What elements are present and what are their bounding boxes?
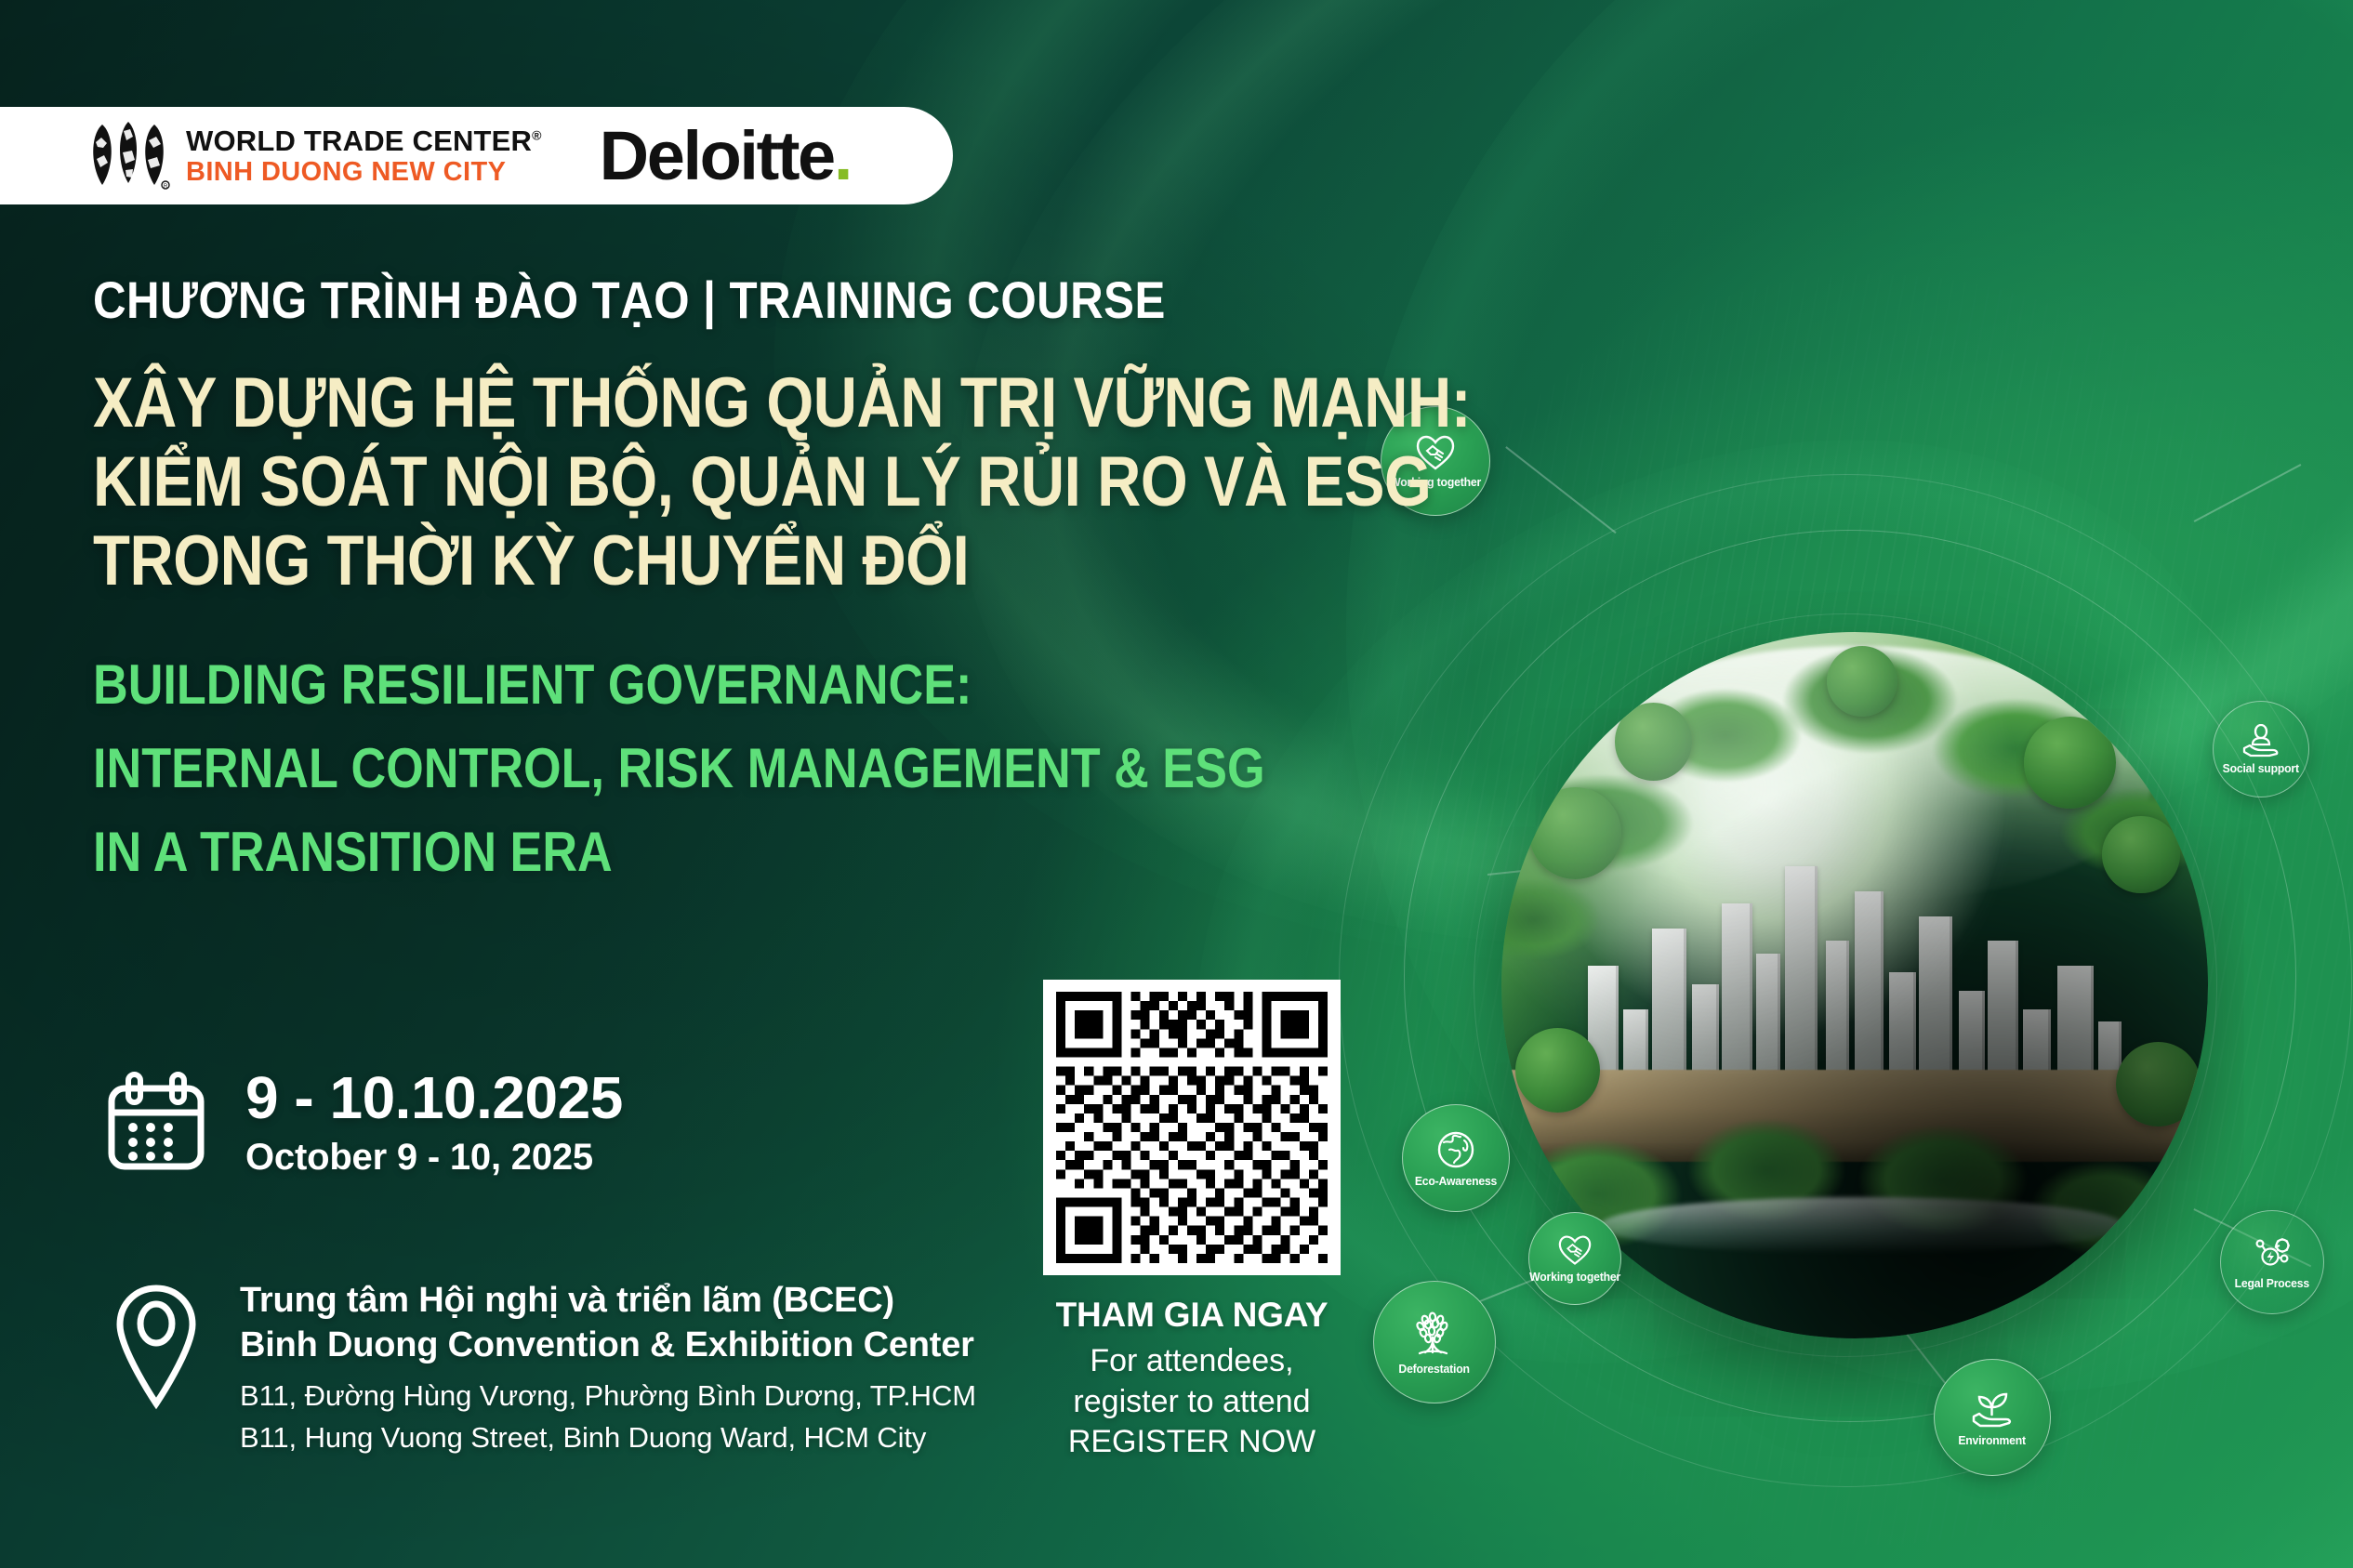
headline-block: CHƯƠNG TRÌNH ĐÀO TẠO | TRAINING COURSE X…	[93, 270, 1543, 894]
logo-bar: R WORLD TRADE CENTER® BINH DUONG NEW CIT…	[0, 107, 953, 204]
wtc-line-2: BINH DUONG NEW CITY	[186, 159, 542, 186]
headline-vietnamese: XÂY DỰNG HỆ THỐNG QUẢN TRỊ VỮNG MẠNH: KI…	[93, 363, 1341, 600]
wtc-globe-leaves-icon: R	[84, 122, 173, 191]
esg-badge-legal-process[interactable]: Legal Process	[2220, 1210, 2324, 1314]
esg-badge-label: Environment	[1959, 1433, 2027, 1447]
esg-badge-working-together-2[interactable]: Working together	[1528, 1212, 1621, 1305]
registered-mark: ®	[532, 127, 542, 142]
date-secondary: October 9 - 10, 2025	[245, 1138, 623, 1177]
svg-text:R: R	[164, 184, 168, 190]
poster-canvas: R WORLD TRADE CENTER® BINH DUONG NEW CIT…	[0, 0, 2353, 1568]
esg-badge-label: Working together	[1529, 1270, 1620, 1284]
venue-name-en: Binh Duong Convention & Exhibition Cente…	[240, 1324, 976, 1368]
venue-name-vi: Trung tâm Hội nghị và triển lãm (BCEC)	[240, 1279, 976, 1324]
wtc-logo: R WORLD TRADE CENTER® BINH DUONG NEW CIT…	[84, 122, 542, 191]
location-block: Trung tâm Hội nghị và triển lãm (BCEC) B…	[112, 1275, 976, 1456]
deloitte-dot: .	[834, 117, 851, 194]
esg-badge-social-support[interactable]: Social support	[2213, 701, 2309, 797]
headline-vi-line-1: XÂY DỰNG HỆ THỐNG QUẢN TRỊ VỮNG MẠNH:	[93, 363, 1341, 442]
connector-line	[2194, 464, 2301, 521]
handshake-heart-icon	[1557, 1234, 1593, 1266]
esg-badge-environment[interactable]: Environment	[1934, 1359, 2051, 1476]
esg-badge-label: Deforestation	[1399, 1362, 1470, 1376]
esg-badge-deforestation[interactable]: Deforestation	[1373, 1281, 1496, 1403]
address-en: B11, Hung Vuong Street, Binh Duong Ward,…	[240, 1420, 976, 1456]
date-primary: 9 - 10.10.2025	[245, 1067, 623, 1130]
wtc-line-1: WORLD TRADE CENTER®	[186, 126, 542, 155]
headline-en-line-3: IN A TRANSITION ERA	[93, 810, 1355, 894]
wtc-wordmark: WORLD TRADE CENTER® BINH DUONG NEW CITY	[186, 126, 542, 186]
calendar-icon	[104, 1070, 208, 1174]
tree-icon	[1410, 1310, 1459, 1358]
qr-code-icon[interactable]	[1043, 980, 1341, 1275]
esg-badge-label: Legal Process	[2235, 1276, 2309, 1290]
esg-badge-label: Social support	[2223, 761, 2299, 775]
cta-en-line-1: For attendees,	[1043, 1341, 1341, 1382]
address-vi: B11, Đường Hùng Vương, Phường Bình Dương…	[240, 1378, 976, 1415]
map-pin-icon	[112, 1283, 201, 1411]
headline-en-line-2: INTERNAL CONTROL, RISK MANAGEMENT & ESG	[93, 727, 1355, 810]
location-text: Trung tâm Hội nghị và triển lãm (BCEC) B…	[240, 1275, 976, 1456]
date-text: 9 - 10.10.2025 October 9 - 10, 2025	[245, 1067, 623, 1177]
headline-vi-line-2: KIỂM SOÁT NỘI BỘ, QUẢN LÝ RỦI RO VÀ ESG	[93, 442, 1341, 521]
deloitte-logo: Deloitte.	[600, 122, 851, 191]
cta-english: For attendees, register to attend REGIST…	[1043, 1341, 1341, 1463]
cta-en-line-3: REGISTER NOW	[1043, 1422, 1341, 1463]
eyebrow-text: CHƯƠNG TRÌNH ĐÀO TẠO | TRAINING COURSE	[93, 270, 1369, 330]
cta-en-line-2: register to attend	[1043, 1382, 1341, 1423]
esg-badge-eco-awareness[interactable]: Eco-Awareness	[1402, 1104, 1510, 1212]
gear-network-icon	[2252, 1235, 2293, 1272]
headline-english: BUILDING RESILIENT GOVERNANCE: INTERNAL …	[93, 643, 1355, 894]
headline-vi-line-3: TRONG THỜI KỲ CHUYỂN ĐỔI	[93, 521, 1341, 600]
hand-sprout-icon	[1969, 1389, 2016, 1430]
registration-block[interactable]: THAM GIA NGAY For attendees, register to…	[1043, 980, 1341, 1463]
esg-badge-label: Eco-Awareness	[1415, 1174, 1497, 1188]
headline-en-line-1: BUILDING RESILIENT GOVERNANCE:	[93, 643, 1355, 727]
date-block: 9 - 10.10.2025 October 9 - 10, 2025	[104, 1067, 623, 1177]
hand-person-icon	[2241, 724, 2280, 758]
cta-vietnamese: THAM GIA NGAY	[1043, 1296, 1341, 1335]
earth-globe-icon	[1435, 1129, 1476, 1170]
